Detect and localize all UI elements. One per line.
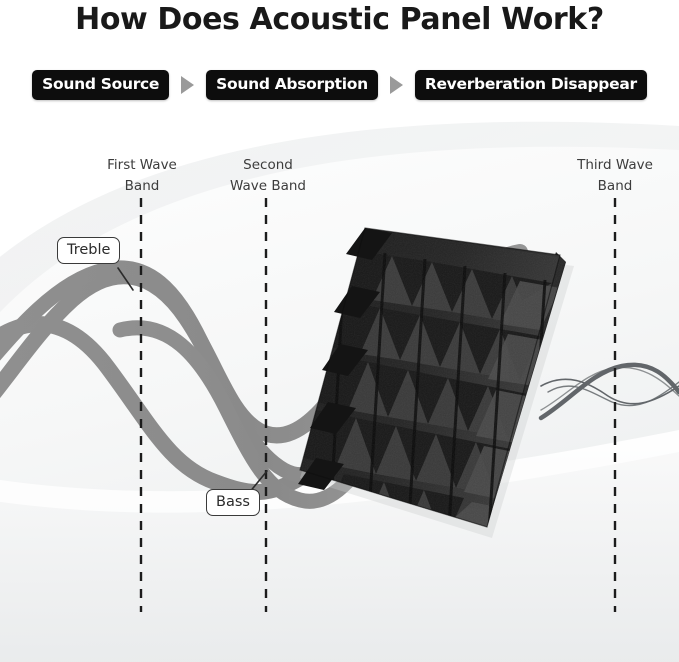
flow-step-sound-absorption[interactable]: Sound Absorption: [206, 70, 378, 101]
band-label-second: Second Wave Band: [208, 155, 328, 197]
chevron-right-icon: [390, 76, 403, 94]
callout-treble: Treble: [57, 237, 120, 264]
process-flow: Sound Source Sound Absorption Reverberat…: [0, 70, 679, 100]
page-title: How Does Acoustic Panel Work?: [0, 2, 679, 37]
chevron-right-icon: [181, 76, 194, 94]
flow-step-sound-source[interactable]: Sound Source: [32, 70, 169, 101]
callout-bass: Bass: [206, 489, 260, 516]
band-label-third: Third Wave Band: [555, 155, 675, 197]
infographic-poster: How Does Acoustic Panel Work? Sound Sour…: [0, 0, 679, 662]
flow-step-reverberation-disappear[interactable]: Reverberation Disappear: [415, 70, 647, 101]
band-label-first: First Wave Band: [82, 155, 202, 197]
